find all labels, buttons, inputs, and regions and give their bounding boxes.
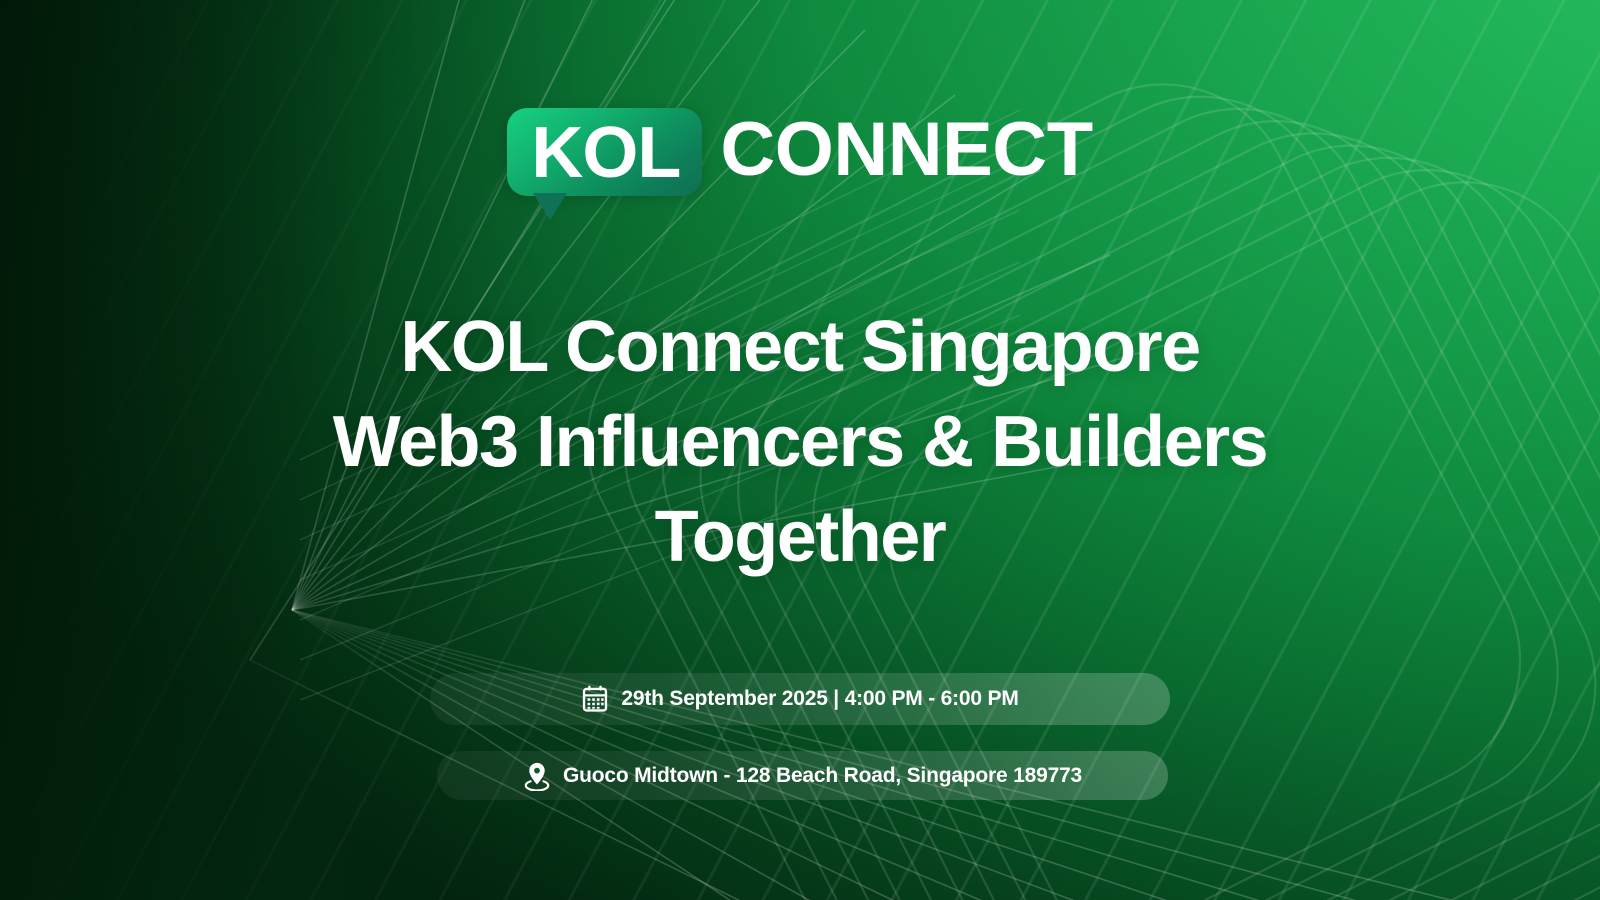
calendar-icon: [581, 685, 609, 713]
brand-logo: KOL CONNECT: [0, 108, 1600, 196]
logo-word-text: CONNECT: [720, 108, 1092, 188]
headline-line-2: Web3 Influencers & Builders: [120, 395, 1480, 490]
event-location-pill: Guoco Midtown - 128 Beach Road, Singapor…: [437, 751, 1168, 800]
logo-badge-text: KOL: [531, 120, 680, 186]
speech-bubble-tail-icon: [533, 193, 567, 220]
event-date-text: 29th September 2025 | 4:00 PM - 6:00 PM: [621, 687, 1018, 711]
event-location-text: Guoco Midtown - 128 Beach Road, Singapor…: [563, 764, 1082, 788]
map-pin-icon: [523, 761, 551, 791]
headline-line-3: Together: [120, 490, 1480, 585]
headline-line-1: KOL Connect Singapore: [120, 300, 1480, 395]
event-date-pill: 29th September 2025 | 4:00 PM - 6:00 PM: [430, 673, 1170, 725]
page-title: KOL Connect Singapore Web3 Influencers &…: [120, 300, 1480, 585]
logo-badge: KOL: [507, 108, 702, 196]
event-poster: KOL CONNECT KOL Connect Singapore Web3 I…: [0, 0, 1600, 900]
